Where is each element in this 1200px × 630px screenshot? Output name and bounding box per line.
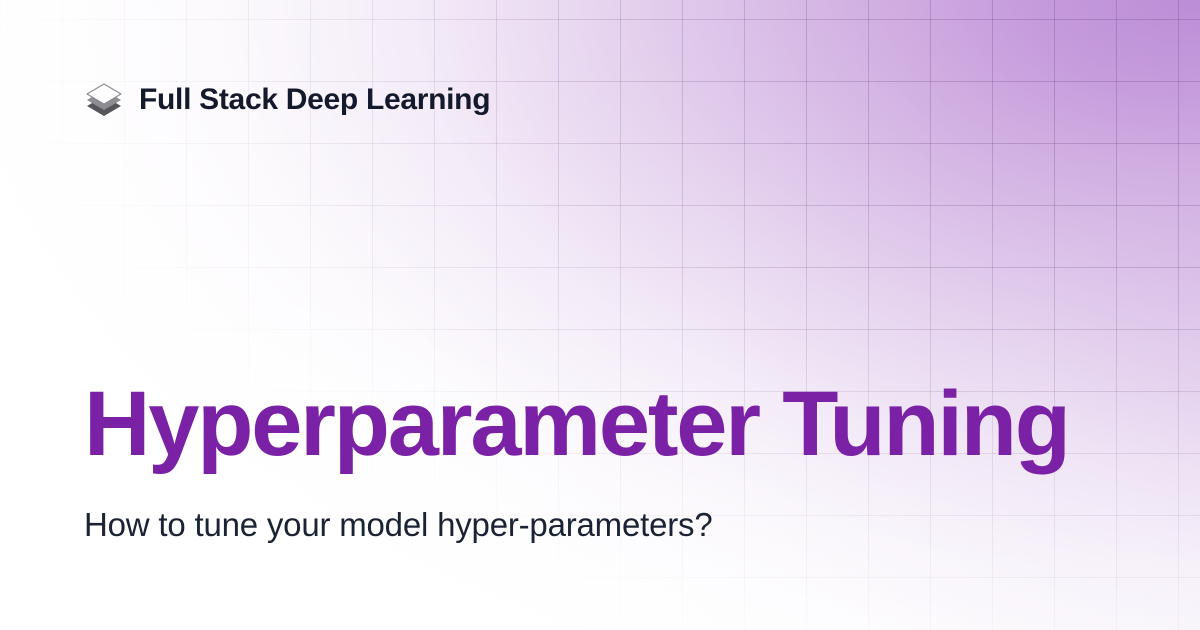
card-content: Full Stack Deep Learning Hyperparameter …	[0, 0, 1200, 630]
page-subtitle: How to tune your model hyper-parameters?	[84, 506, 712, 544]
brand-name: Full Stack Deep Learning	[139, 85, 490, 115]
brand-lockup: Full Stack Deep Learning	[84, 80, 490, 120]
page-title: Hyperparameter Tuning	[84, 378, 1069, 470]
og-card: Full Stack Deep Learning Hyperparameter …	[0, 0, 1200, 630]
stacked-layers-icon	[84, 80, 124, 120]
